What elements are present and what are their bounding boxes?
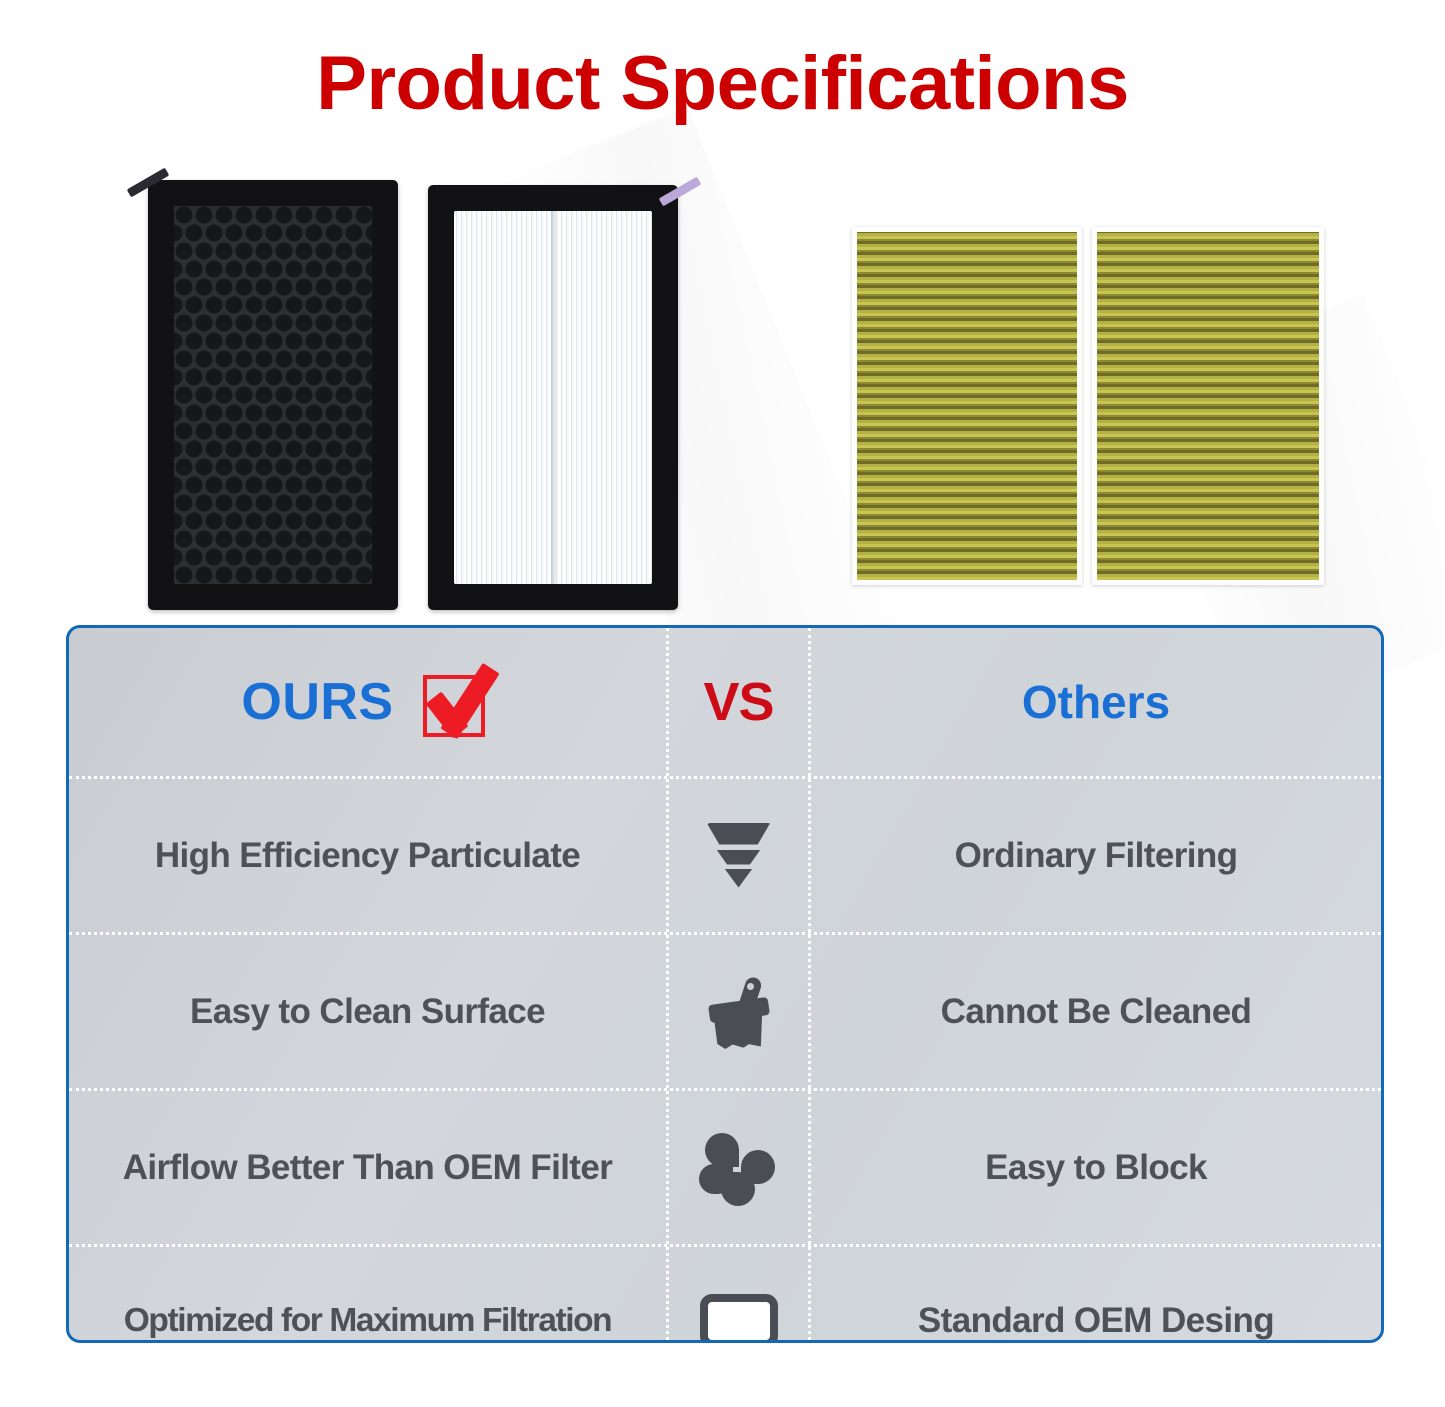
table-header-row: OURS VS Others: [69, 628, 1381, 776]
comparison-table: OURS VS Others High Efficiency Particula…: [66, 625, 1384, 1343]
filter-pull-tab: [127, 168, 170, 198]
row-3-icon-cell: [669, 1091, 811, 1244]
others-media-surface-right: [1097, 232, 1319, 580]
filter-pull-tab-2: [659, 177, 702, 207]
table-row: Easy to Clean Surface Cannot Be Cleaned: [69, 932, 1381, 1088]
ours-label: OURS: [241, 672, 393, 732]
product-photo-strip: [0, 155, 1445, 620]
row-4-others-cell: Standard OEM Desing: [811, 1247, 1381, 1343]
table-row: Airflow Better Than OEM Filter Easy to B…: [69, 1088, 1381, 1244]
row-2-ours-text: Easy to Clean Surface: [190, 992, 545, 1032]
row-4-ours-text: Optimized for Maximum Filtration: [124, 1302, 612, 1340]
others-media-surface-left: [857, 232, 1077, 580]
pinwheel-fan-icon: [701, 1128, 777, 1208]
row-3-ours-text: Airflow Better Than OEM Filter: [123, 1148, 613, 1188]
row-1-icon-cell: [669, 779, 811, 932]
row-1-others-text: Ordinary Filtering: [955, 836, 1238, 876]
table-row: Optimized for Maximum Filtration Standar…: [69, 1244, 1381, 1343]
header-cell-vs: VS: [669, 628, 811, 776]
row-4-others-text: Standard OEM Desing: [918, 1301, 1274, 1341]
row-4-icon-cell: [669, 1247, 811, 1343]
red-check-box-icon: [420, 665, 494, 739]
photo-others-filter-right: [1092, 227, 1324, 585]
funnel-filter-icon: [704, 823, 774, 889]
others-label: Others: [1022, 675, 1170, 729]
table-row: High Efficiency Particulate Ordinary Fil…: [69, 776, 1381, 932]
photo-activated-carbon-filter: [148, 180, 398, 610]
photo-others-filter-left: [852, 227, 1082, 585]
page-title: Product Specifications: [0, 46, 1445, 122]
carbon-media-surface: [174, 206, 372, 584]
header-cell-ours: OURS: [69, 628, 669, 776]
row-2-icon-cell: [669, 935, 811, 1088]
cleaning-brush-icon: [702, 975, 776, 1049]
hepa-media-surface: [454, 211, 652, 584]
row-2-others-text: Cannot Be Cleaned: [941, 992, 1252, 1032]
vs-label: VS: [703, 671, 773, 733]
row-3-others-text: Easy to Block: [985, 1148, 1207, 1188]
row-1-ours-text: High Efficiency Particulate: [155, 836, 580, 876]
rounded-frame-icon: [700, 1294, 778, 1344]
row-4-ours-cell: Optimized for Maximum Filtration: [69, 1247, 669, 1343]
header-cell-others: Others: [811, 628, 1381, 776]
row-2-ours-cell: Easy to Clean Surface: [69, 935, 669, 1088]
row-1-ours-cell: High Efficiency Particulate: [69, 779, 669, 932]
row-2-others-cell: Cannot Be Cleaned: [811, 935, 1381, 1088]
row-3-others-cell: Easy to Block: [811, 1091, 1381, 1244]
row-3-ours-cell: Airflow Better Than OEM Filter: [69, 1091, 669, 1244]
photo-hepa-filter: [428, 185, 678, 610]
row-1-others-cell: Ordinary Filtering: [811, 779, 1381, 932]
